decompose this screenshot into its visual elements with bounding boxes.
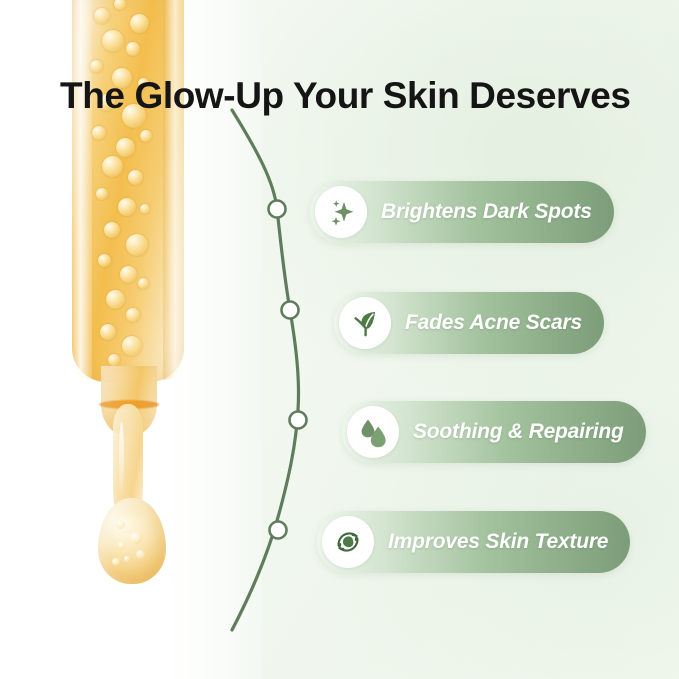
leaf-sprout-icon xyxy=(339,297,391,349)
feature-label: Fades Acne Scars xyxy=(405,311,582,335)
spine-node-2 xyxy=(282,302,299,319)
poster-canvas: The Glow-Up Your Skin Deserves Brightens… xyxy=(0,0,679,679)
spine-node-1 xyxy=(269,201,286,218)
spine-node-4 xyxy=(270,522,287,539)
feature-pill-improves-skin-texture[interactable]: Improves Skin Texture xyxy=(317,511,630,573)
feature-label: Brightens Dark Spots xyxy=(381,200,592,224)
feature-pill-soothing-repairing[interactable]: Soothing & Repairing xyxy=(342,401,646,463)
renewal-cycle-icon xyxy=(322,516,374,568)
feature-label: Soothing & Repairing xyxy=(413,420,624,444)
spine-node-3 xyxy=(290,412,307,429)
water-droplets-icon xyxy=(347,406,399,458)
page-title: The Glow-Up Your Skin Deserves xyxy=(60,73,660,119)
feature-pill-fades-acne-scars[interactable]: Fades Acne Scars xyxy=(334,292,604,354)
feature-pill-brightens-dark-spots[interactable]: Brightens Dark Spots xyxy=(310,181,614,243)
feature-label: Improves Skin Texture xyxy=(388,530,608,554)
sparkle-icon xyxy=(315,186,367,238)
